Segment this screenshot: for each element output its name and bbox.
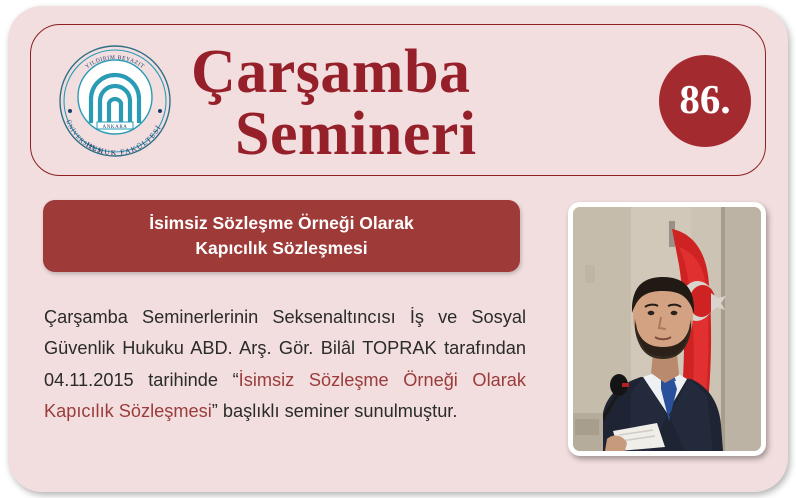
seminar-number-text: 86.: [679, 79, 730, 123]
banner-line-2: Kapıcılık Sözleşmesi: [195, 236, 367, 261]
university-logo: YILDIRIM BEYAZIT ÜNİVERSİTESİ HUKUK FAKÜ…: [53, 39, 177, 163]
title-line-2: Semineri: [235, 103, 477, 165]
header-frame: YILDIRIM BEYAZIT ÜNİVERSİTESİ HUKUK FAKÜ…: [30, 24, 766, 176]
title-line-1: Çarşamba: [191, 41, 471, 103]
seminar-topic-banner: İsimsiz Sözleşme Örneği Olarak Kapıcılık…: [43, 200, 520, 272]
title-block: Çarşamba Semineri: [191, 29, 661, 173]
speaker-photo: [573, 207, 761, 451]
seminar-number-badge: 86.: [659, 55, 751, 147]
seminar-poster-card: YILDIRIM BEYAZIT ÜNİVERSİTESİ HUKUK FAKÜ…: [8, 6, 788, 492]
logo-center-text: ANKARA: [103, 125, 128, 130]
description-part-2: ” başlıklı seminer sunulmuştur.: [212, 401, 458, 421]
speaker-photo-frame: [568, 202, 766, 456]
seminar-description: Çarşamba Seminerlerinin Seksenaltıncısı …: [44, 302, 526, 427]
banner-line-1: İsimsiz Sözleşme Örneği Olarak: [149, 211, 414, 236]
